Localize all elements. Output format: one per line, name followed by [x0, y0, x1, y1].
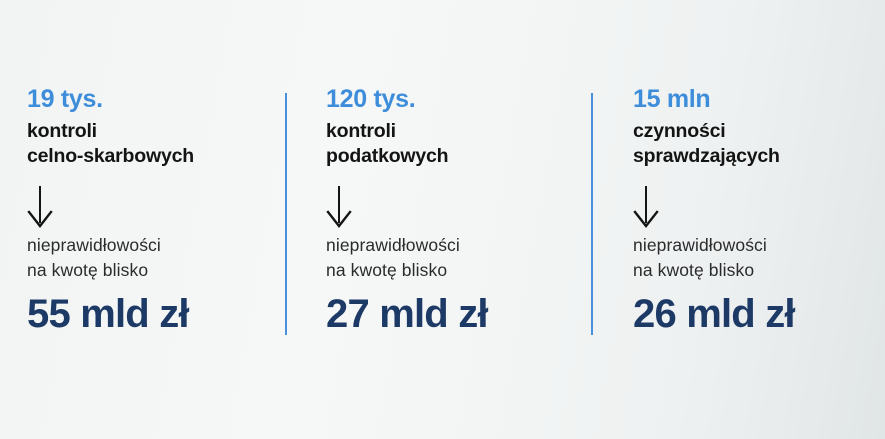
stat-subject-line-1: czynności — [633, 119, 883, 144]
stat-amount: 26 mld zł — [633, 291, 883, 337]
stat-subject-line-2: sprawdzających — [633, 144, 883, 169]
stat-column-podatkowe: 120 tys. kontroli podatkowych nieprawidł… — [326, 84, 576, 337]
infographic-canvas: 19 tys. kontroli celno-skarbowych niepra… — [0, 0, 885, 439]
stat-caption: nieprawidłowości na kwotę blisko — [326, 233, 576, 283]
stat-amount: 27 mld zł — [326, 291, 576, 337]
down-arrow-icon — [27, 185, 59, 229]
stat-subject-line-1: kontroli — [27, 119, 277, 144]
stat-caption: nieprawidłowości na kwotę blisko — [633, 233, 883, 283]
down-arrow-icon — [633, 185, 665, 229]
stat-headline: 19 tys. — [27, 84, 277, 114]
stat-caption: nieprawidłowości na kwotę blisko — [27, 233, 277, 283]
stat-headline: 120 tys. — [326, 84, 576, 114]
stat-caption-line-1: nieprawidłowości — [326, 233, 576, 258]
stat-column-czynnosci-sprawdzajace: 15 mln czynności sprawdzających nieprawi… — [633, 84, 883, 337]
stat-subject-line-2: podatkowych — [326, 144, 576, 169]
stat-caption-line-2: na kwotę blisko — [326, 258, 576, 283]
stat-column-celno-skarbowe: 19 tys. kontroli celno-skarbowych niepra… — [27, 84, 277, 337]
stat-subject-line-2: celno-skarbowych — [27, 144, 277, 169]
stat-subject: czynności sprawdzających — [633, 119, 883, 169]
stat-caption-line-1: nieprawidłowości — [633, 233, 883, 258]
stat-amount: 55 mld zł — [27, 291, 277, 337]
stat-columns-container: 19 tys. kontroli celno-skarbowych niepra… — [0, 0, 885, 439]
stat-subject: kontroli celno-skarbowych — [27, 119, 277, 169]
stat-caption-line-2: na kwotę blisko — [633, 258, 883, 283]
stat-caption-line-2: na kwotę blisko — [27, 258, 277, 283]
stat-caption-line-1: nieprawidłowości — [27, 233, 277, 258]
column-divider — [285, 93, 287, 335]
down-arrow-icon — [326, 185, 358, 229]
stat-headline: 15 mln — [633, 84, 883, 114]
stat-subject: kontroli podatkowych — [326, 119, 576, 169]
column-divider — [591, 93, 593, 335]
stat-subject-line-1: kontroli — [326, 119, 576, 144]
